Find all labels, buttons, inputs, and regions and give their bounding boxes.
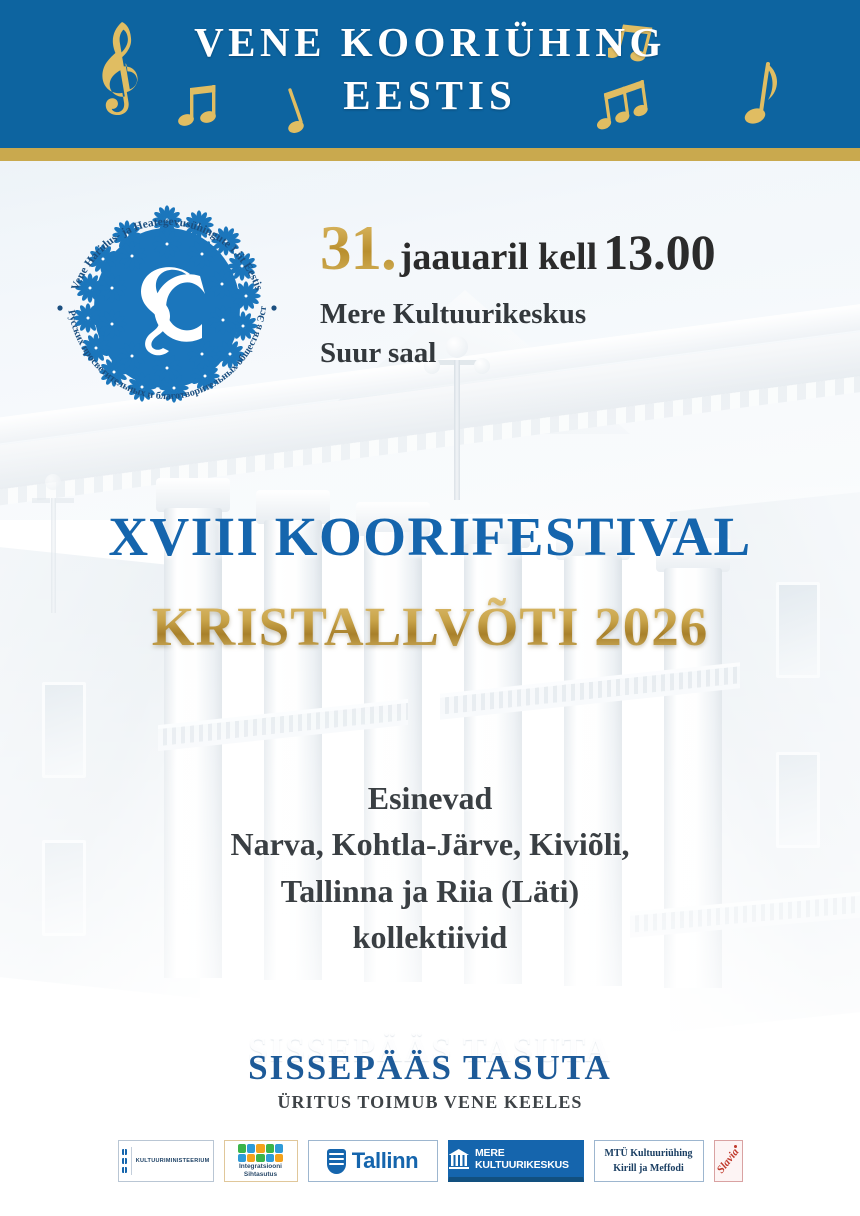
- free-entry-label: SISSEPÄÄS TASUTA: [0, 1048, 860, 1088]
- sponsor-logo-kultuuriministeerium[interactable]: KULTUURIMINISTEERIUM: [118, 1140, 214, 1182]
- sponsor-label: MTÜ Kultuuriühing Kirill ja Meffodi: [604, 1146, 692, 1176]
- sponsor-label-line2: Sihtasutus: [244, 1171, 277, 1178]
- sponsor-logo-tallinn[interactable]: Tallinn: [308, 1140, 438, 1182]
- event-language-note: ÜRITUS TOIMUB VENE KEELES: [0, 1092, 860, 1113]
- event-month-label: jaauaril kell: [400, 236, 597, 278]
- sponsor-label-line1: Integratsiooni: [239, 1163, 282, 1170]
- performers-line1: Narva, Kohtla-Järve, Kiviõli,: [0, 821, 860, 867]
- event-date-line: 31.jaauaril kell13.00: [320, 212, 840, 285]
- organisation-emblem-logo: Vene Haridus- ja Heategevusühingute Liit…: [42, 196, 292, 421]
- performers-block: Esinevad Narva, Kohtla-Järve, Kiviõli, T…: [0, 775, 860, 961]
- temple-columns: [451, 1155, 467, 1166]
- header-title-line2: EESTIS: [0, 69, 860, 122]
- event-time: 13.00: [603, 224, 716, 280]
- event-venue: Mere Kultuurikeskus Suur saal: [320, 295, 840, 374]
- festival-main-title: XVIII KOORIFESTIVAL: [0, 505, 860, 568]
- header-title-line1: VENE KOORIÜHING: [0, 16, 860, 69]
- emblem-dot: [57, 305, 62, 310]
- sponsor-label: Integratsiooni Sihtasutus: [239, 1163, 282, 1178]
- event-datetime-block: 31.jaauaril kell13.00 Mere Kultuurikesku…: [320, 212, 840, 374]
- event-poster: VENE KOORIÜHING EESTIS: [0, 0, 860, 1216]
- sponsor-logo-integratsiooni-sihtasutus[interactable]: Integratsiooni Sihtasutus: [224, 1140, 298, 1182]
- sponsor-logo-mtu-kultuuriuhing[interactable]: MTÜ Kultuuriühing Kirill ja Meffodi: [594, 1140, 704, 1182]
- performers-line3: kollektiivid: [0, 914, 860, 960]
- three-lions-icon: [122, 1148, 128, 1174]
- classical-temple-icon: [449, 1149, 469, 1169]
- sponsor-label: KULTUURIMINISTEERIUM: [136, 1158, 210, 1164]
- sponsor-label: MERE KULTUURIKESKUS: [475, 1147, 583, 1171]
- performers-heading: Esinevad: [0, 775, 860, 821]
- sponsor-label: Slavia: [715, 1146, 742, 1176]
- poster-header-band: VENE KOORIÜHING EESTIS: [0, 0, 860, 148]
- performers-line2: Tallinna ja Riia (Läti): [0, 868, 860, 914]
- sponsor-label-line2: Kirill ja Meffodi: [613, 1163, 684, 1174]
- venue-name: Mere Kultuurikeskus: [320, 295, 840, 334]
- puzzle-people-icon: [238, 1144, 284, 1162]
- emblem-dot: [271, 305, 276, 310]
- gold-divider-bar: [0, 148, 860, 161]
- sponsor-logo-mere-kultuurikeskus[interactable]: MERE KULTUURIKESKUS: [448, 1140, 584, 1182]
- sponsor-logo-strip: KULTUURIMINISTEERIUM Integratsiooni Siht…: [0, 1133, 860, 1189]
- sponsor-label: Tallinn: [352, 1148, 418, 1174]
- venue-hall: Suur saal: [320, 334, 840, 373]
- header-title: VENE KOORIÜHING EESTIS: [0, 16, 860, 123]
- sponsor-logo-slavia[interactable]: Slavia: [714, 1140, 743, 1182]
- festival-sub-title: KRISTALLVÕTI 2026: [0, 595, 860, 658]
- tallinn-shield-icon: [327, 1149, 346, 1174]
- temple-base: [449, 1167, 469, 1170]
- event-day: 31.: [320, 213, 396, 283]
- sponsor-label-line1: MTÜ Kultuuriühing: [604, 1148, 692, 1159]
